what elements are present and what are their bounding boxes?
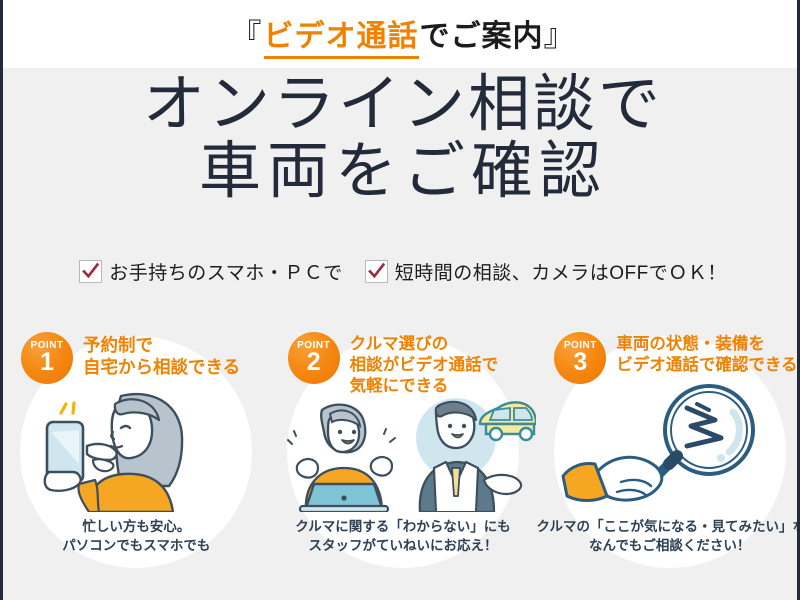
point-card-2: POINT 2 クルマ選びの 相談がビデオ通話で 気軽にできる (270, 318, 537, 600)
point-badge-3: POINT 3 (554, 332, 606, 384)
hero-line-2: 車両をご確認 (3, 139, 800, 206)
point-head-3: POINT 3 車両の状態・装備を ビデオ通話で確認できる (536, 332, 800, 384)
illustration-woman-laptop-and-staff-with-car (270, 388, 537, 520)
point-title-1: 予約制で 自宅から相談できる (83, 332, 240, 379)
hero-line-1: オンライン相談で (3, 72, 800, 139)
point-caption-line: クルマに関する「わからない」にも (270, 517, 537, 537)
points-panel: POINT 1 予約制で 自宅から相談できる (3, 318, 800, 600)
feature-check-label-2: 短時間の相談、カメラはOFFでＯＫ！ (395, 258, 727, 285)
hero-heading: オンライン相談で 車両をご確認 (3, 72, 800, 206)
point-title-line: 自宅から相談できる (83, 356, 240, 378)
top-banner-title: 『 ビデオ通話 でご案内 』 (231, 10, 576, 59)
point-badge-number-3: 3 (573, 350, 587, 375)
point-title-3: 車両の状態・装備を ビデオ通話で確認できる (616, 332, 797, 376)
point-title-line: 相談がビデオ通話で (350, 355, 499, 376)
feature-check-item-2: 短時間の相談、カメラはOFFでＯＫ！ (365, 258, 727, 285)
point-title-line: クルマ選びの (350, 334, 499, 355)
top-banner-plain: でご案内 (420, 11, 544, 55)
top-banner-highlight: ビデオ通話 (264, 11, 419, 59)
point-caption-2: クルマに関する「わからない」にも スタッフがていねいにお応え！ (270, 517, 537, 556)
point-badge-1: POINT 1 (21, 332, 73, 384)
point-card-1: POINT 1 予約制で 自宅から相談できる (3, 318, 270, 600)
point-card-3: POINT 3 車両の状態・装備を ビデオ通話で確認できる (536, 318, 800, 600)
point-badge-number-1: 1 (40, 350, 54, 375)
point-caption-line: クルマの「ここが気になる・見てみたい」など (536, 517, 800, 537)
point-badge-2: POINT 2 (288, 332, 340, 384)
point-badge-number-2: 2 (307, 350, 321, 375)
bracket-open: 『 (231, 10, 263, 55)
point-title-line: 車両の状態・装備を (616, 334, 797, 355)
illustration-woman-with-smartphone (3, 380, 270, 512)
check-icon (365, 260, 388, 283)
point-caption-line: スタッフがていねいにお応え！ (270, 536, 537, 556)
point-caption-line: パソコンでもスマホでも (3, 536, 270, 556)
point-caption-line: 忙しい方も安心。 (3, 517, 270, 537)
feature-check-label-1: お手持ちのスマホ・ＰＣで (109, 258, 342, 285)
point-title-line: ビデオ通話で確認できる (616, 355, 797, 376)
point-caption-line: なんでもご相談ください！ (536, 536, 800, 556)
point-head-1: POINT 1 予約制で 自宅から相談できる (3, 332, 270, 384)
top-banner-strip: 『 ビデオ通話 でご案内 』 (3, 0, 800, 68)
point-caption-1: 忙しい方も安心。 パソコンでもスマホでも (3, 517, 270, 556)
promo-banner: 『 ビデオ通話 でご案内 』 オンライン相談で 車両をご確認 お手持ちのスマホ・… (0, 0, 800, 600)
point-title-line: 予約制で (83, 334, 240, 356)
point-caption-3: クルマの「ここが気になる・見てみたい」など なんでもご相談ください！ (536, 517, 800, 556)
check-icon (79, 260, 102, 283)
feature-check-item-1: お手持ちのスマホ・ＰＣで (79, 258, 342, 285)
feature-check-row: お手持ちのスマホ・ＰＣで 短時間の相談、カメラはOFFでＯＫ！ (3, 258, 800, 285)
bracket-close: 』 (544, 10, 576, 55)
illustration-hand-holding-magnifier (536, 384, 800, 516)
